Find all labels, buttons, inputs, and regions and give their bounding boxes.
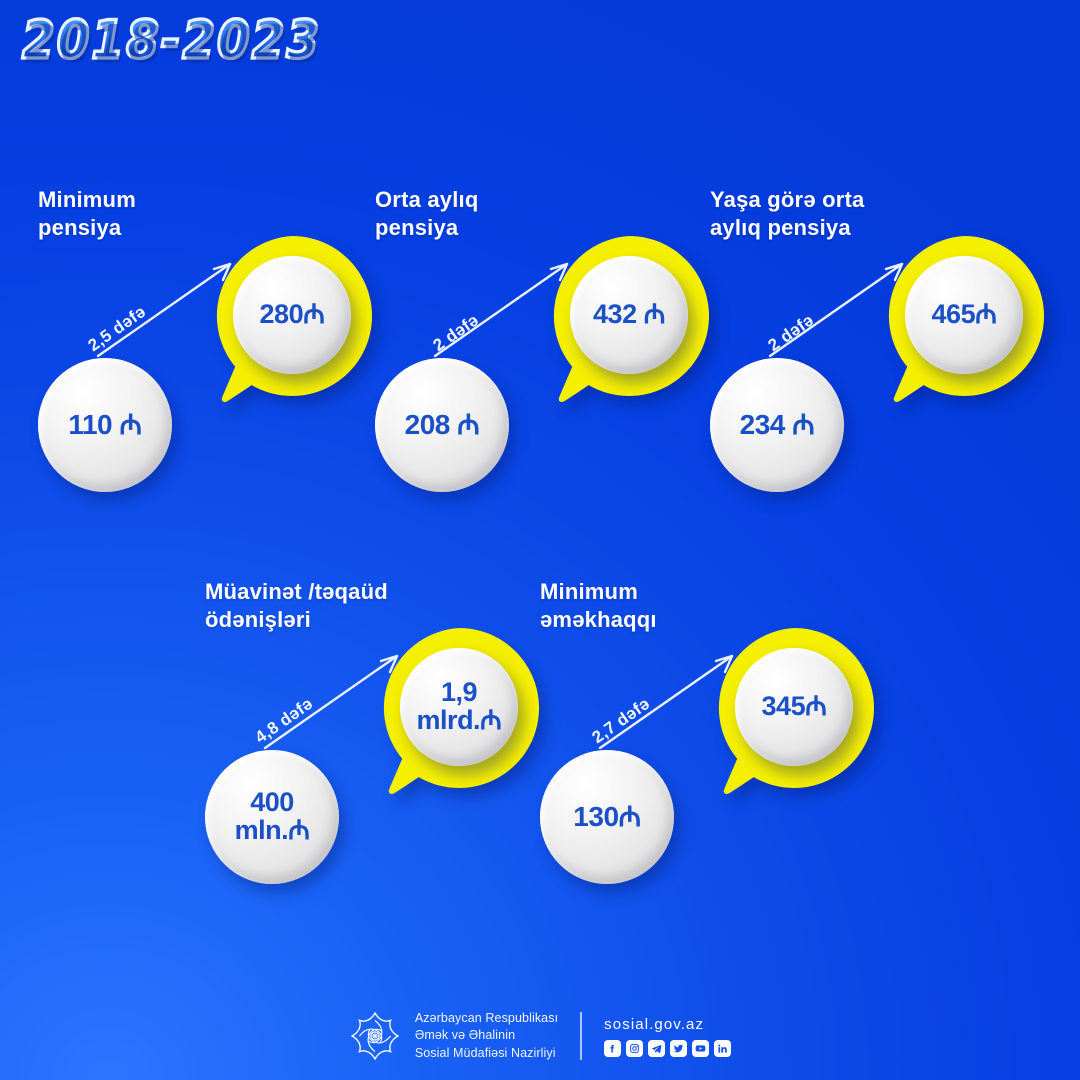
multiplier-label: 2,7 dəfə <box>589 694 654 748</box>
instagram-icon[interactable] <box>626 1040 643 1057</box>
telegram-icon[interactable] <box>648 1040 665 1057</box>
value-text: 234 ₼ <box>740 411 815 440</box>
value-disc-to: 1,9 mlrd.₼ <box>400 648 518 766</box>
linkedin-icon[interactable] <box>714 1040 731 1057</box>
value-disc-from: 234 ₼ <box>710 358 844 492</box>
value-disc-from: 110 ₼ <box>38 358 172 492</box>
card-title: Müavinət /təqaüd ödənişləri <box>205 578 388 634</box>
value-disc-to: 465₼ <box>905 256 1023 374</box>
card-title: Minimum pensiya <box>38 186 136 242</box>
infographic-canvas: 2018-2023 Minimum pensiya 280₼ 110 ₼ 2,5… <box>0 0 1080 1080</box>
value-text: 1,9 mlrd.₼ <box>417 679 502 734</box>
value-text: 110 ₼ <box>68 411 141 440</box>
youtube-icon[interactable] <box>692 1040 709 1057</box>
ministry-name: Azərbaycan Respublikası Əmək və Əhalinin… <box>415 1010 558 1062</box>
stat-card-orta-ayliq-pensiya: Orta aylıq pensiya 432 ₼ 208 ₼ 2 dəfə <box>375 186 705 506</box>
facebook-icon[interactable] <box>604 1040 621 1057</box>
value-disc-to: 432 ₼ <box>570 256 688 374</box>
ministry-star-emblem-icon <box>349 1010 401 1062</box>
value-disc-to: 345₼ <box>735 648 853 766</box>
multiplier-label: 4,8 dəfə <box>252 694 317 748</box>
footer-contact-block: sosial.gov.az <box>604 1016 731 1057</box>
stat-card-yasa-gore-orta-ayliq-pensiya: Yaşa görə orta aylıq pensiya 465₼ 234 ₼ … <box>710 186 1050 506</box>
multiplier-label: 2 dəfə <box>430 310 483 356</box>
value-disc-from: 130₼ <box>540 750 674 884</box>
value-text: 208 ₼ <box>405 411 480 440</box>
stat-card-muavinet-teqaud-odenisleri: Müavinət /təqaüd ödənişləri 1,9 mlrd.₼ 4… <box>205 578 545 898</box>
page-title: 2018-2023 <box>22 10 321 72</box>
stat-card-minimum-emekhaqqi: Minimum əməkhaqqı 345₼ 130₼ 2,7 dəfə <box>540 578 880 898</box>
value-disc-from: 208 ₼ <box>375 358 509 492</box>
footer: Azərbaycan Respublikası Əmək və Əhalinin… <box>0 1010 1080 1062</box>
multiplier-label: 2 dəfə <box>765 310 818 356</box>
value-text: 465₼ <box>932 301 997 329</box>
value-text: 280₼ <box>260 301 325 329</box>
card-title: Yaşa görə orta aylıq pensiya <box>710 186 864 242</box>
website-link[interactable]: sosial.gov.az <box>604 1016 731 1033</box>
value-text: 432 ₼ <box>593 301 665 329</box>
stat-card-minimum-pensiya: Minimum pensiya 280₼ 110 ₼ 2,5 dəfə <box>38 186 368 506</box>
value-disc-from: 400 mln.₼ <box>205 750 339 884</box>
value-text: 345₼ <box>762 693 827 721</box>
multiplier-label: 2,5 dəfə <box>85 302 150 356</box>
footer-divider <box>580 1012 582 1060</box>
value-text: 400 mln.₼ <box>235 789 310 844</box>
social-links <box>604 1040 731 1057</box>
card-title: Orta aylıq pensiya <box>375 186 478 242</box>
value-text: 130₼ <box>573 803 640 832</box>
twitter-icon[interactable] <box>670 1040 687 1057</box>
value-disc-to: 280₼ <box>233 256 351 374</box>
card-title: Minimum əməkhaqqı <box>540 578 657 634</box>
